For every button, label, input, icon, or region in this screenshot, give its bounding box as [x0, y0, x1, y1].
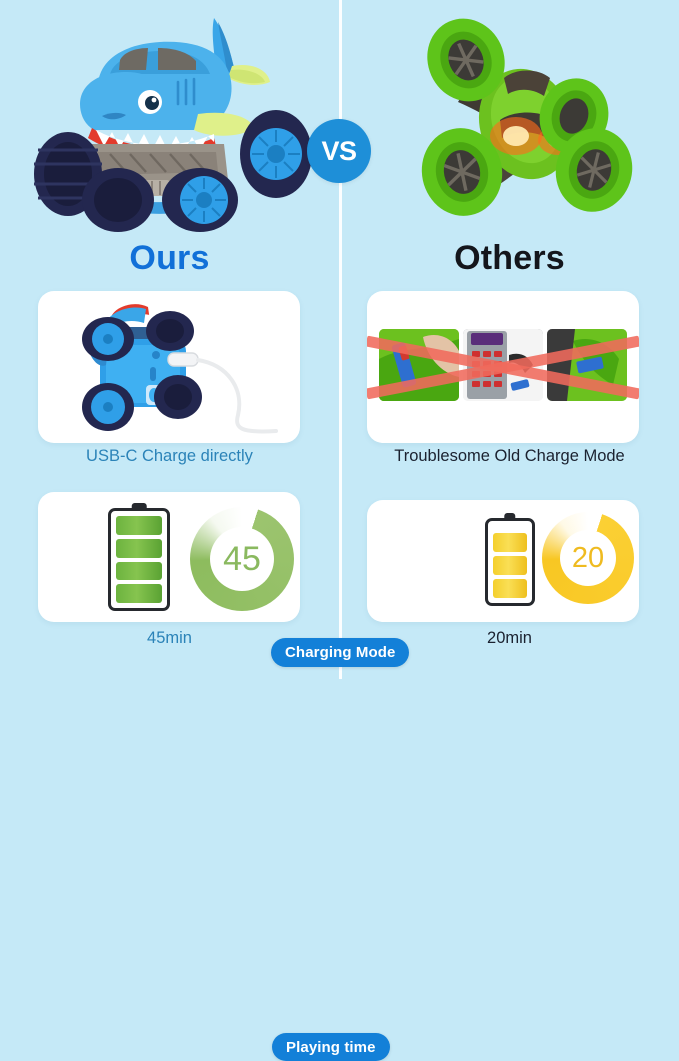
old-charge-thumbnail-strip	[379, 329, 627, 401]
donut-chart-20: 20	[542, 512, 634, 604]
donut-chart-45: 45	[190, 507, 294, 611]
playing-time-badge: Playing time	[272, 1033, 390, 1061]
charging-mode-badge: Charging Mode	[271, 638, 409, 667]
donut-value-45: 45	[223, 540, 261, 579]
green-stunt-car-image	[392, 12, 648, 232]
infographic-root: Ours	[0, 0, 679, 679]
donut-value-20: 20	[572, 542, 604, 575]
vs-badge: VS	[307, 119, 371, 183]
hero-label-ours: Ours	[0, 239, 339, 278]
battery-icon-yellow	[485, 518, 535, 606]
usb-c-cable	[166, 343, 290, 435]
battery-bar	[116, 539, 162, 558]
playing-ours-card: 45	[38, 492, 300, 622]
battery-bar	[493, 533, 527, 552]
battery-icon-green	[108, 508, 170, 611]
battery-bar	[116, 584, 162, 603]
hero-label-others: Others	[340, 239, 679, 278]
charging-ours-caption: USB-C Charge directly	[0, 447, 339, 466]
hero-comparison-row: Ours	[0, 0, 679, 290]
playing-others-card: 20	[367, 500, 639, 622]
battery-bar	[116, 516, 162, 535]
battery-bar	[493, 579, 527, 598]
battery-bar	[493, 556, 527, 575]
blue-shark-stunt-car-image	[18, 4, 318, 236]
hero-others-column: Others	[340, 0, 679, 290]
charging-others-card	[367, 291, 639, 443]
battery-bar	[116, 562, 162, 581]
charging-mode-row: USB-C Charge directly	[0, 287, 679, 480]
charging-ours-card	[38, 291, 300, 443]
hero-ours-column: Ours	[0, 0, 339, 290]
charging-others-caption: Troublesome Old Charge Mode	[340, 447, 679, 466]
